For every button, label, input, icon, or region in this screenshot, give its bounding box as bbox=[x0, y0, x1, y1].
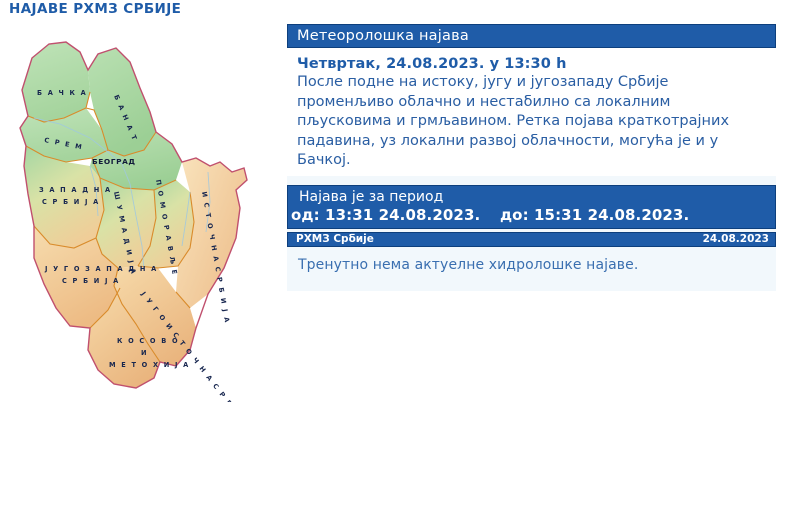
app-root: НАЈАВЕ РХМЗ СРБИЈЕ bbox=[0, 0, 790, 515]
announcement-body: Четвртак, 24.08.2023. у 13:30 h После по… bbox=[287, 48, 776, 176]
validity-period-label: Најава је за период bbox=[288, 188, 775, 206]
panel-footer-spacer bbox=[287, 282, 776, 291]
map-label-backa: Б А Ч К А bbox=[37, 89, 87, 97]
validity-period-box: Најава је за период од: 13:31 24.08.2023… bbox=[287, 185, 776, 229]
announcement-panel: Метеоролошка најава Четвртак, 24.08.2023… bbox=[287, 24, 776, 291]
map-label-zapadna-srbija-1: З А П А Д Н А bbox=[39, 186, 112, 194]
source-date: 24.08.2023 bbox=[703, 232, 769, 246]
source-bar: РХМЗ Србије 24.08.2023 bbox=[287, 232, 776, 247]
meteo-announcement-header: Метеоролошка најава bbox=[287, 24, 776, 48]
validity-period-from: од: 13:31 24.08.2023. bbox=[291, 206, 480, 224]
hydrological-note: Тренутно нема актуелне хидролошке најаве… bbox=[287, 247, 776, 282]
map-label-jugozapadna-2: С Р Б И Ј А bbox=[62, 277, 120, 285]
map-label-jugozapadna-1: Ј У Г О З А П А Д Н А bbox=[44, 265, 158, 273]
map-svg: Б А Ч К А Б А Н А Т С Р Е М БЕОГРАД З А … bbox=[4, 32, 284, 402]
map-label-kosovo-1: К О С О В О bbox=[117, 337, 179, 345]
forecast-text: После подне на истоку, југу и југозападу… bbox=[297, 73, 759, 171]
validity-period-to: до: 15:31 24.08.2023. bbox=[500, 206, 689, 224]
region-backa bbox=[22, 42, 90, 122]
page-title: НАЈАВЕ РХМЗ СРБИЈЕ bbox=[9, 1, 181, 17]
validity-period-range: од: 13:31 24.08.2023. до: 15:31 24.08.20… bbox=[288, 206, 775, 225]
map-label-zapadna-srbija-2: С Р Б И Ј А bbox=[42, 198, 100, 206]
map-label-beograd: БЕОГРАД bbox=[92, 157, 136, 166]
serbia-region-map: Б А Ч К А Б А Н А Т С Р Е М БЕОГРАД З А … bbox=[4, 32, 284, 402]
source-name: РХМЗ Србије bbox=[296, 232, 374, 246]
forecast-datetime: Четвртак, 24.08.2023. у 13:30 h bbox=[297, 56, 766, 72]
map-label-kosovo-2: И bbox=[141, 349, 148, 357]
map-label-kosovo-3: М Е Т О Х И Ј А bbox=[109, 361, 190, 369]
